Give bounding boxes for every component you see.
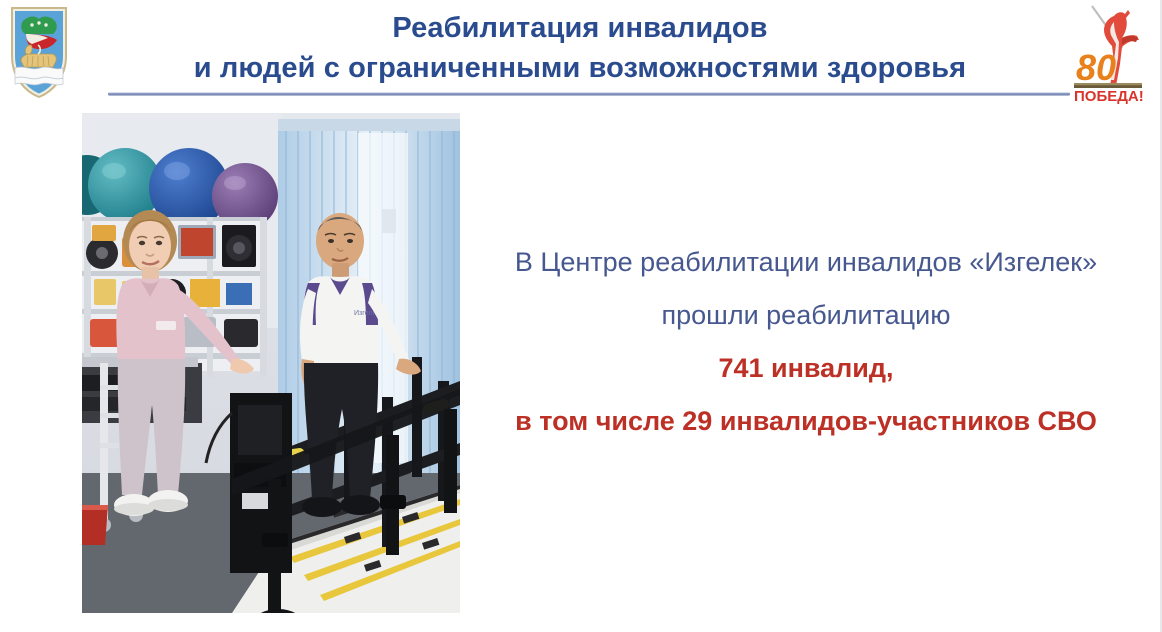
title-line-2: и людей с ограниченными возможностями зд… [110,48,1050,88]
svg-text:80: 80 [1076,47,1116,88]
body-line-1: В Центре реабилитации инвалидов «Изгелек… [470,236,1142,289]
slide-title: Реабилитация инвалидов и людей с огранич… [110,8,1050,88]
title-line-1: Реабилитация инвалидов [110,8,1050,48]
presentation-slide: Реабилитация инвалидов и людей с огранич… [0,0,1162,632]
body-line-4-highlight: в том числе 29 инвалидов-участников СВО [470,395,1142,448]
victory-80-logo: 80 ПОБЕДА! [1070,2,1148,106]
rehabilitation-photo: Изгелек [82,113,460,613]
body-line-3-highlight: 741 инвалид, [470,342,1142,395]
header-divider [108,92,1070,96]
body-line-2: прошли реабилитацию [470,289,1142,342]
coat-of-arms-icon [8,4,70,100]
slide-header: Реабилитация инвалидов и людей с огранич… [0,0,1162,108]
svg-text:ПОБЕДА!: ПОБЕДА! [1074,88,1144,105]
slide-body-text: В Центре реабилитации инвалидов «Изгелек… [470,236,1142,448]
